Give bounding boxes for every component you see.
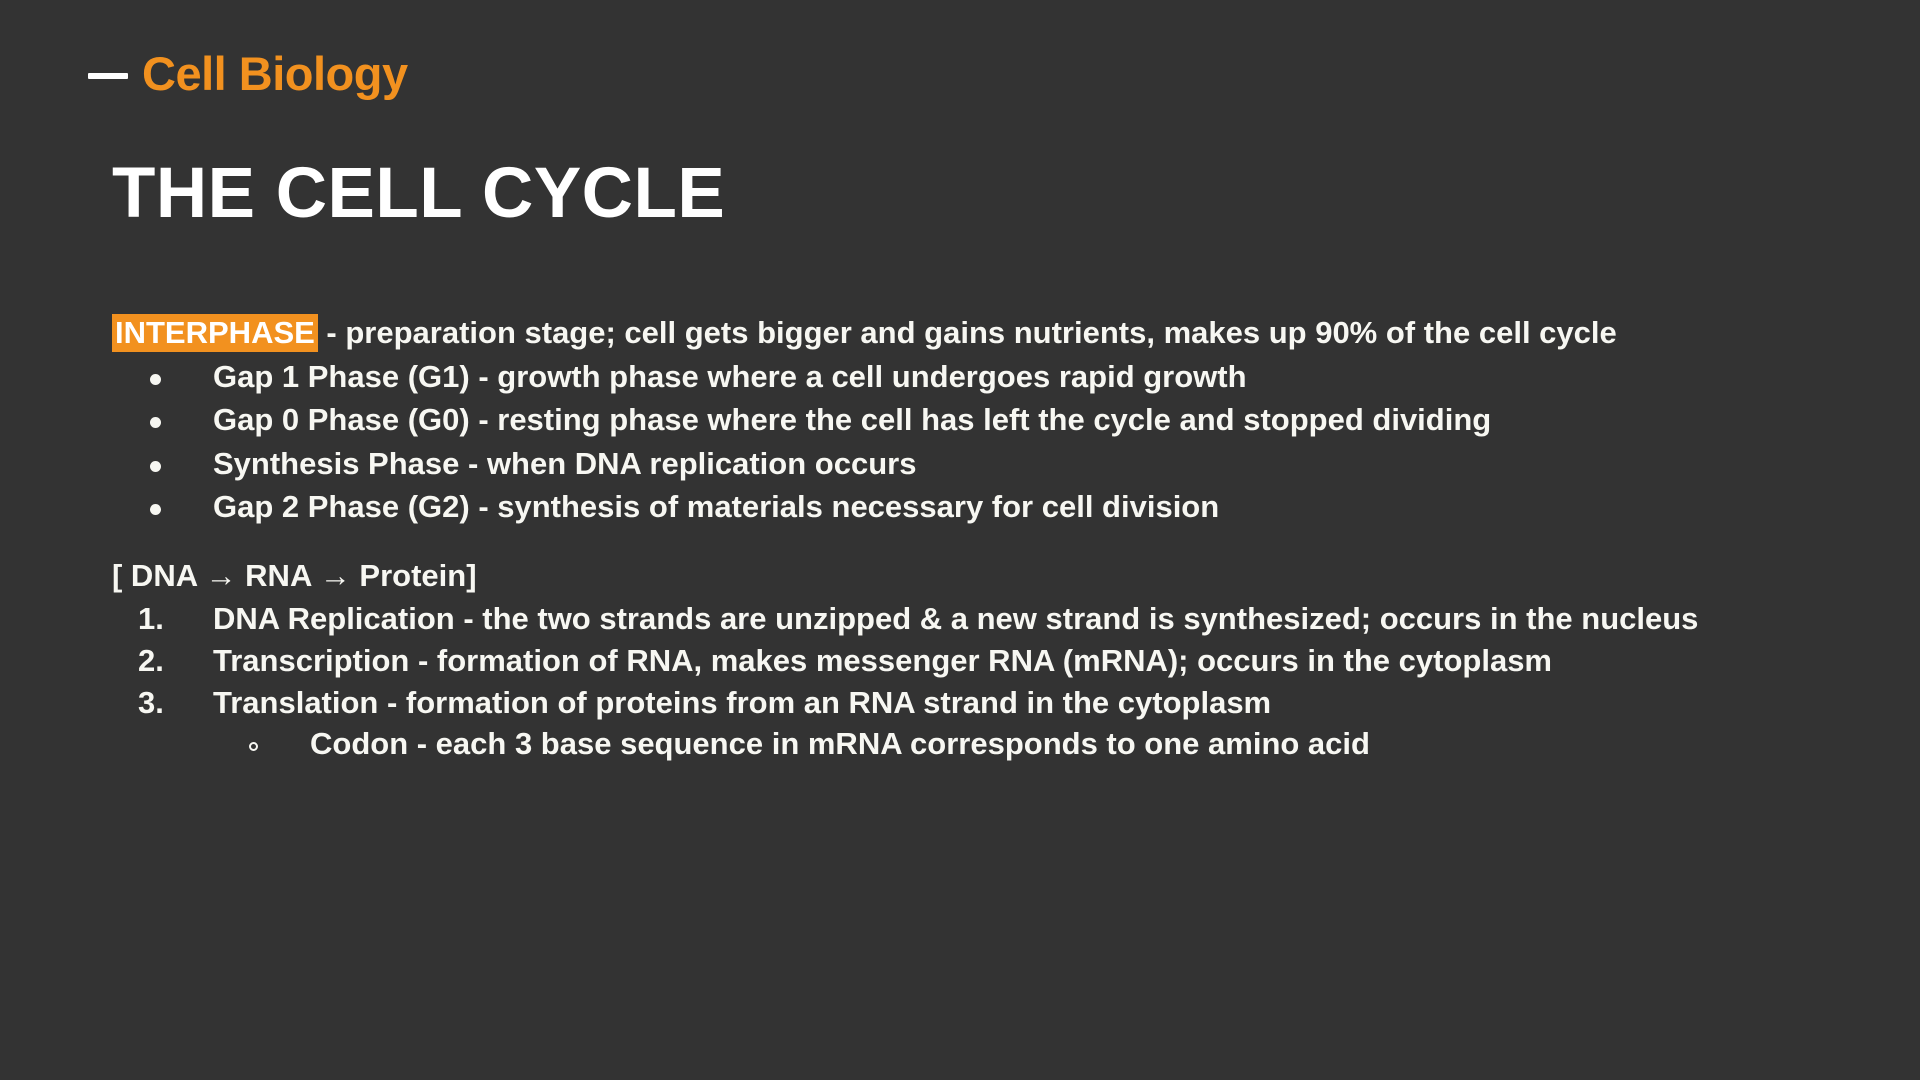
codon-sublist: Codon - each 3 base sequence in mRNA cor… [213, 726, 1852, 763]
central-dogma-steps: 1. DNA Replication - the two strands are… [112, 601, 1852, 762]
list-item-label: Gap 0 Phase (G0) - resting phase where t… [213, 402, 1491, 437]
slide-body: INTERPHASE - preparation stage; cell get… [112, 315, 1852, 768]
bullet-dot-icon [150, 504, 161, 515]
list-item: Gap 2 Phase (G2) - synthesis of material… [112, 489, 1852, 526]
bullet-dot-icon [150, 417, 161, 428]
list-item: Synthesis Phase - when DNA replication o… [112, 446, 1852, 483]
bullet-dot-icon [150, 461, 161, 472]
list-item: 3. Translation - formation of proteins f… [112, 685, 1852, 763]
list-item-label: Translation - formation of proteins from… [213, 685, 1271, 720]
list-item-label: Gap 1 Phase (G1) - growth phase where a … [213, 359, 1247, 394]
interphase-highlight: INTERPHASE [112, 314, 318, 352]
list-item: Gap 0 Phase (G0) - resting phase where t… [112, 402, 1852, 439]
list-marker: 1. [138, 601, 198, 638]
list-item-label: Gap 2 Phase (G2) - synthesis of material… [213, 489, 1219, 524]
list-item: Codon - each 3 base sequence in mRNA cor… [213, 726, 1852, 763]
list-item-label: Transcription - formation of RNA, makes … [213, 643, 1552, 678]
list-item-label: Synthesis Phase - when DNA replication o… [213, 446, 916, 481]
list-item-label: DNA Replication - the two strands are un… [213, 601, 1698, 636]
eyebrow-label: Cell Biology [142, 50, 408, 97]
bullet-dot-icon [150, 374, 161, 385]
list-marker: 2. [138, 643, 198, 680]
list-item: Gap 1 Phase (G1) - growth phase where a … [112, 359, 1852, 396]
slide-eyebrow: Cell Biology [88, 50, 408, 97]
list-item: 2. Transcription - formation of RNA, mak… [112, 643, 1852, 680]
pathway-line: [ DNA → RNA → Protein] [112, 558, 1852, 595]
bullet-circle-icon [249, 742, 258, 751]
dash-icon [88, 73, 128, 79]
list-item: 1. DNA Replication - the two strands are… [112, 601, 1852, 638]
phase-list: Gap 1 Phase (G1) - growth phase where a … [112, 359, 1852, 526]
slide-canvas: Cell Biology THE CELL CYCLE INTERPHASE -… [0, 0, 1920, 1080]
interphase-paragraph: INTERPHASE - preparation stage; cell get… [112, 315, 1812, 352]
list-marker: 3. [138, 685, 198, 722]
page-title: THE CELL CYCLE [112, 158, 725, 229]
interphase-description: - preparation stage; cell gets bigger an… [318, 315, 1617, 350]
list-item-label: Codon - each 3 base sequence in mRNA cor… [310, 726, 1370, 761]
